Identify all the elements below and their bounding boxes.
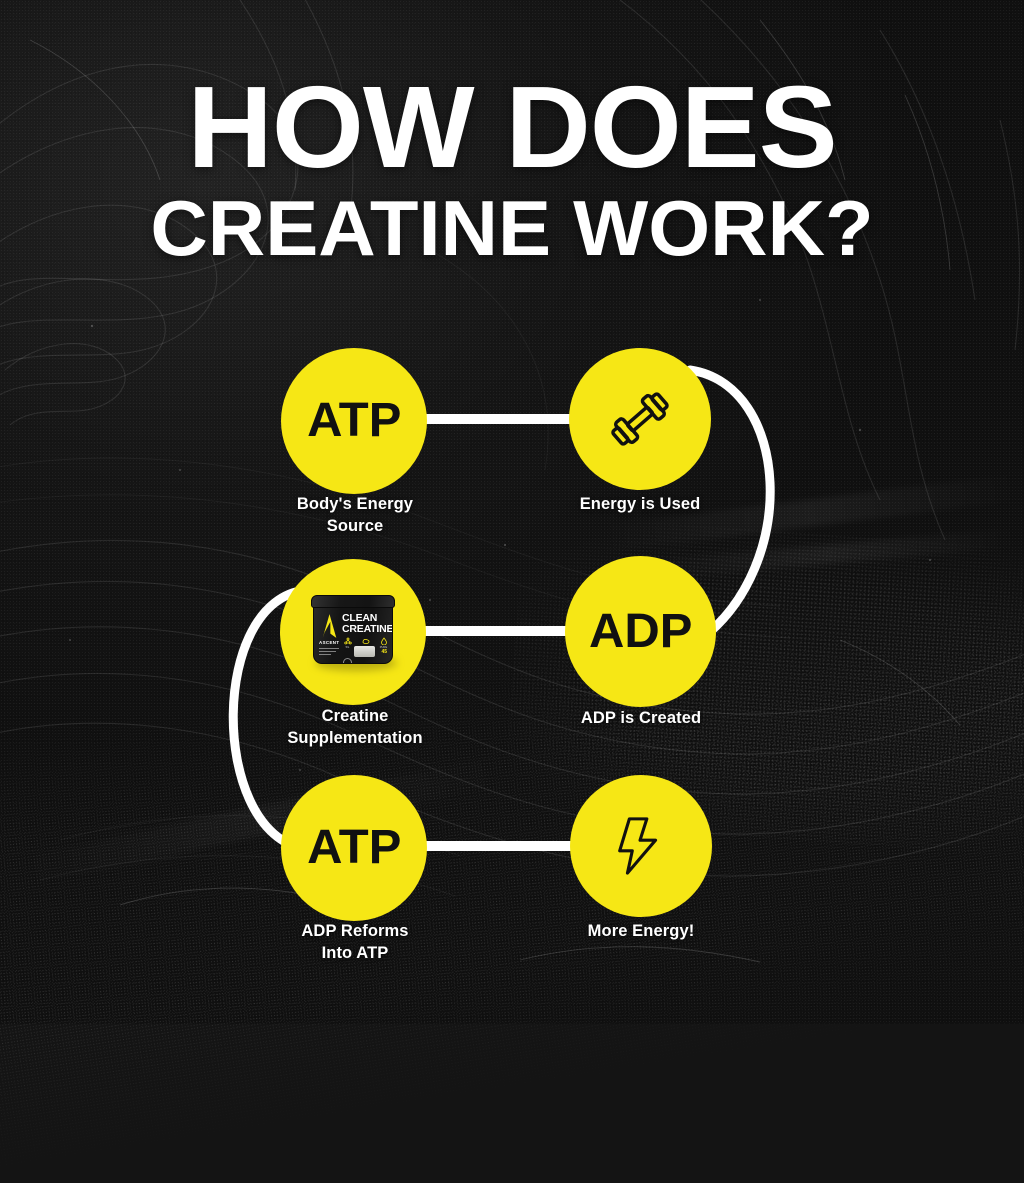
node-energy-used[interactable] [569, 348, 711, 490]
tub-brand-name: ASCENT [319, 640, 339, 645]
drop-icon [380, 637, 388, 645]
tub-badge: PURE [378, 637, 389, 649]
tub-seal-icon [343, 658, 352, 664]
caption-more-energy-line1: More Energy! [588, 922, 695, 940]
tub-net-weight: 45 [381, 649, 387, 655]
tub-body: ASCENT CLEAN CREATINE 5G [313, 600, 393, 664]
caption-atp-top: Body's Energy Source [255, 494, 455, 538]
tub-badge: 5G [342, 637, 353, 649]
caption-adp: ADP is Created [540, 708, 742, 730]
tub-fine-print [319, 648, 339, 656]
dumbbell-icon [604, 383, 676, 455]
node-atp-bottom[interactable]: ATP [281, 775, 427, 921]
node-more-energy[interactable] [570, 775, 712, 917]
tub-badge-label: 5G [342, 646, 353, 649]
caption-creatine-line1: Creatine [322, 707, 389, 725]
node-atp-top[interactable]: ATP [281, 348, 427, 494]
lightning-bolt-icon [610, 815, 672, 877]
node-creatine-supplement[interactable]: ASCENT CLEAN CREATINE 5G [280, 559, 426, 705]
caption-atp-bottom-line2: Into ATP [322, 944, 389, 962]
creatine-cycle-diagram: ATP Body's Energy Source Energy is Used [0, 0, 1024, 1024]
node-adp-label: ADP [589, 608, 692, 656]
caption-atp-top-line1: Body's Energy [297, 495, 413, 513]
muscle-icon [362, 637, 370, 645]
caption-atp-bottom: ADP Reforms Into ATP [255, 921, 455, 965]
caption-energy-used-line1: Energy is Used [580, 495, 701, 513]
molecule-icon [344, 637, 352, 645]
node-atp-top-label: ATP [307, 397, 401, 445]
caption-energy-used: Energy is Used [540, 494, 740, 516]
tub-scoop-graphic [354, 646, 375, 657]
caption-atp-top-line2: Source [327, 517, 384, 535]
tub-product-name: CLEAN CREATINE [342, 613, 393, 634]
ascent-mountain-logo-icon [321, 613, 338, 639]
creatine-product-tub: ASCENT CLEAN CREATINE 5G [307, 593, 399, 671]
tub-product-name-line2: CREATINE [342, 624, 393, 635]
caption-creatine-supplement: Creatine Supplementation [245, 706, 465, 750]
caption-more-energy: More Energy! [540, 921, 742, 943]
tub-lid [311, 595, 395, 608]
node-atp-bottom-label: ATP [307, 824, 401, 872]
caption-adp-line1: ADP is Created [581, 709, 701, 727]
connector-lines [0, 0, 1024, 1024]
caption-atp-bottom-line1: ADP Reforms [301, 922, 408, 940]
caption-creatine-line2: Supplementation [287, 729, 422, 747]
node-adp[interactable]: ADP [565, 556, 716, 707]
